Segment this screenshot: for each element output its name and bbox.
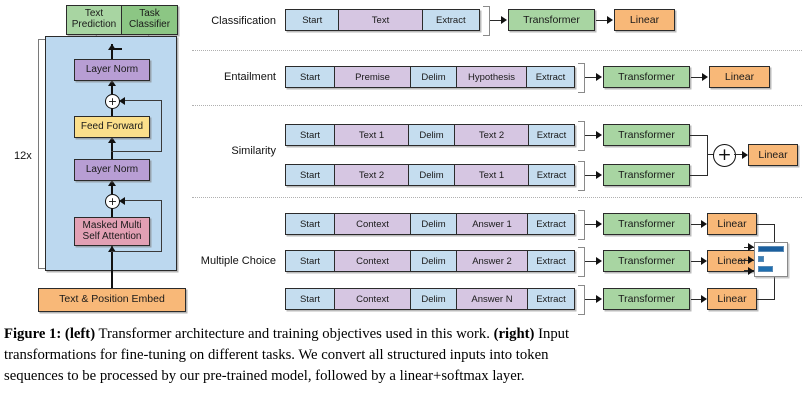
token-extract: Extract [527, 67, 574, 87]
sequence-multiple-choice-0: Start Context Delim Answer 1 Extract [285, 213, 575, 235]
group-bracket-similarity-0 [578, 121, 585, 151]
layer-norm-lower: Layer Norm [74, 159, 150, 181]
figure-image: Text Prediction Task Classifier 12x Mask… [0, 0, 809, 320]
token-start: Start [286, 125, 335, 145]
figure-caption: Figure 1: (left) Transformer architectur… [4, 324, 805, 387]
token-premise: Premise [335, 67, 411, 87]
residual-skip-attention-h-top [125, 200, 162, 201]
residual-skip-ff-h-bottom [111, 151, 162, 152]
head-task-classifier: Task Classifier [122, 5, 178, 35]
arrowhead-entailment-linear [702, 73, 708, 81]
token-extract: Extract [529, 125, 574, 145]
arrowhead-mc-0-transformer [596, 220, 602, 228]
arrowhead-classification-transformer [501, 16, 507, 24]
token-text-2: Text 2 [455, 125, 529, 145]
residual-skip-ff-h-top [125, 100, 162, 101]
similarity-sum-node: + [713, 144, 736, 167]
group-bracket-mc-0 [578, 210, 585, 240]
sequence-multiple-choice-1: Start Context Delim Answer 2 Extract [285, 250, 575, 272]
token-answer: Answer 1 [457, 214, 528, 234]
caption-line-2: transformations for fine-tuning on diffe… [4, 345, 805, 366]
token-text-1: Text 1 [455, 165, 529, 185]
layer-norm-upper: Layer Norm [74, 59, 150, 81]
residual-add-feedforward: + [105, 94, 120, 109]
linear-similarity: Linear [748, 144, 798, 166]
layer-feed-forward: Feed Forward [74, 116, 150, 138]
sequence-multiple-choice-2: Start Context Delim Answer N Extract [285, 288, 575, 310]
separator-1 [192, 50, 802, 51]
token-delim: Delim [411, 289, 457, 309]
arrowhead-similarity-1-transformer [596, 171, 602, 179]
linear-classification: Linear [614, 9, 675, 31]
token-delim: Delim [411, 214, 457, 234]
mc-route-0-h [757, 224, 775, 225]
arrowhead-residual-add-attention [119, 197, 125, 205]
token-start: Start [286, 289, 335, 309]
token-extract: Extract [529, 165, 574, 185]
caption-text-1a: Transformer architecture and training ob… [95, 326, 494, 342]
transformer-entailment: Transformer [603, 66, 690, 88]
caption-bold-left: (left) [65, 326, 95, 342]
residual-skip-attention-v [161, 200, 162, 252]
task-label-similarity: Similarity [190, 145, 276, 157]
transformer-classification: Transformer [508, 9, 595, 31]
text-position-embed: Text & Position Embed [38, 288, 186, 312]
softmax-bar-3 [758, 266, 773, 272]
token-text-1: Text 1 [335, 125, 409, 145]
task-label-classification: Classification [190, 15, 276, 27]
arrowhead-mc-1-transformer [596, 257, 602, 265]
sequence-entailment-0: Start Premise Delim Hypothesis Extract [285, 66, 575, 88]
group-bracket-entailment [578, 63, 585, 93]
task-label-entailment: Entailment [190, 71, 276, 83]
mc-route-2-h [757, 299, 775, 300]
token-context: Context [335, 289, 411, 309]
softmax-bar-2 [758, 256, 764, 262]
residual-skip-ff-v [161, 100, 162, 152]
caption-prefix: Figure 1: [4, 326, 61, 342]
transformer-mc-1: Transformer [603, 250, 690, 272]
caption-line-1: Figure 1: (left) Transformer architectur… [4, 324, 805, 345]
token-extract: Extract [528, 251, 574, 271]
caption-line-3: sequences to be processed by our pre-tra… [4, 366, 805, 387]
separator-3 [192, 197, 802, 198]
softmax-bar-1 [758, 246, 784, 252]
head-text-prediction: Text Prediction [66, 5, 122, 35]
arrowhead-residual-add-ff [119, 97, 125, 105]
token-delim: Delim [409, 165, 455, 185]
token-extract: Extract [528, 289, 574, 309]
group-bracket-mc-2 [578, 285, 585, 315]
sequence-similarity-1: Start Text 2 Delim Text 1 Extract [285, 164, 575, 186]
token-start: Start [286, 67, 335, 87]
arrowhead-entailment-transformer [596, 73, 602, 81]
heads-junction-h [111, 48, 122, 50]
group-bracket-similarity-1 [578, 161, 585, 191]
token-delim: Delim [411, 67, 457, 87]
arrowhead-mc-2-transformer [596, 295, 602, 303]
token-start: Start [286, 165, 335, 185]
token-context: Context [335, 214, 411, 234]
residual-skip-attention-h-bottom [111, 251, 162, 252]
group-bracket-mc-1 [578, 247, 585, 277]
merge-line-sim-1 [690, 175, 708, 176]
layer-masked-multi-self-attention: Masked Multi Self Attention [74, 217, 150, 246]
task-label-multiple-choice: Multiple Choice [176, 255, 276, 267]
transformer-similarity-0: Transformer [603, 124, 690, 146]
linear-mc-0: Linear [707, 213, 757, 235]
figure-caption-region: Figure 1: (left) Transformer architectur… [0, 320, 809, 403]
group-bracket-classification [483, 6, 490, 36]
repeat-count-label: 12x [14, 150, 32, 162]
linear-mc-2: Linear [707, 288, 757, 310]
token-delim: Delim [411, 251, 457, 271]
token-answer: Answer N [457, 289, 528, 309]
token-text-2: Text 2 [335, 165, 409, 185]
arrowhead-classification-linear [607, 16, 613, 24]
token-start: Start [286, 251, 335, 271]
merge-line-sim-0 [690, 135, 708, 136]
token-start: Start [286, 214, 335, 234]
caption-bold-right: (right) [494, 326, 535, 342]
token-context: Context [335, 251, 411, 271]
arrowhead-similarity-0-transformer [596, 131, 602, 139]
sequence-classification-0: Start Text Extract [285, 9, 480, 31]
token-hypothesis: Hypothesis [457, 67, 527, 87]
transformer-mc-0: Transformer [603, 213, 690, 235]
linear-entailment: Linear [709, 66, 770, 88]
token-delim: Delim [409, 125, 455, 145]
sequence-similarity-0: Start Text 1 Delim Text 2 Extract [285, 124, 575, 146]
residual-add-attention: + [105, 194, 120, 209]
separator-2 [192, 105, 802, 106]
token-extract: Extract [423, 10, 479, 30]
token-start: Start [286, 10, 339, 30]
caption-text-1b: Input [534, 326, 569, 342]
transformer-similarity-1: Transformer [603, 164, 690, 186]
token-text: Text [339, 10, 422, 30]
softmax-output-chart [754, 242, 788, 277]
token-answer: Answer 2 [457, 251, 528, 271]
transformer-mc-2: Transformer [603, 288, 690, 310]
token-extract: Extract [528, 214, 574, 234]
